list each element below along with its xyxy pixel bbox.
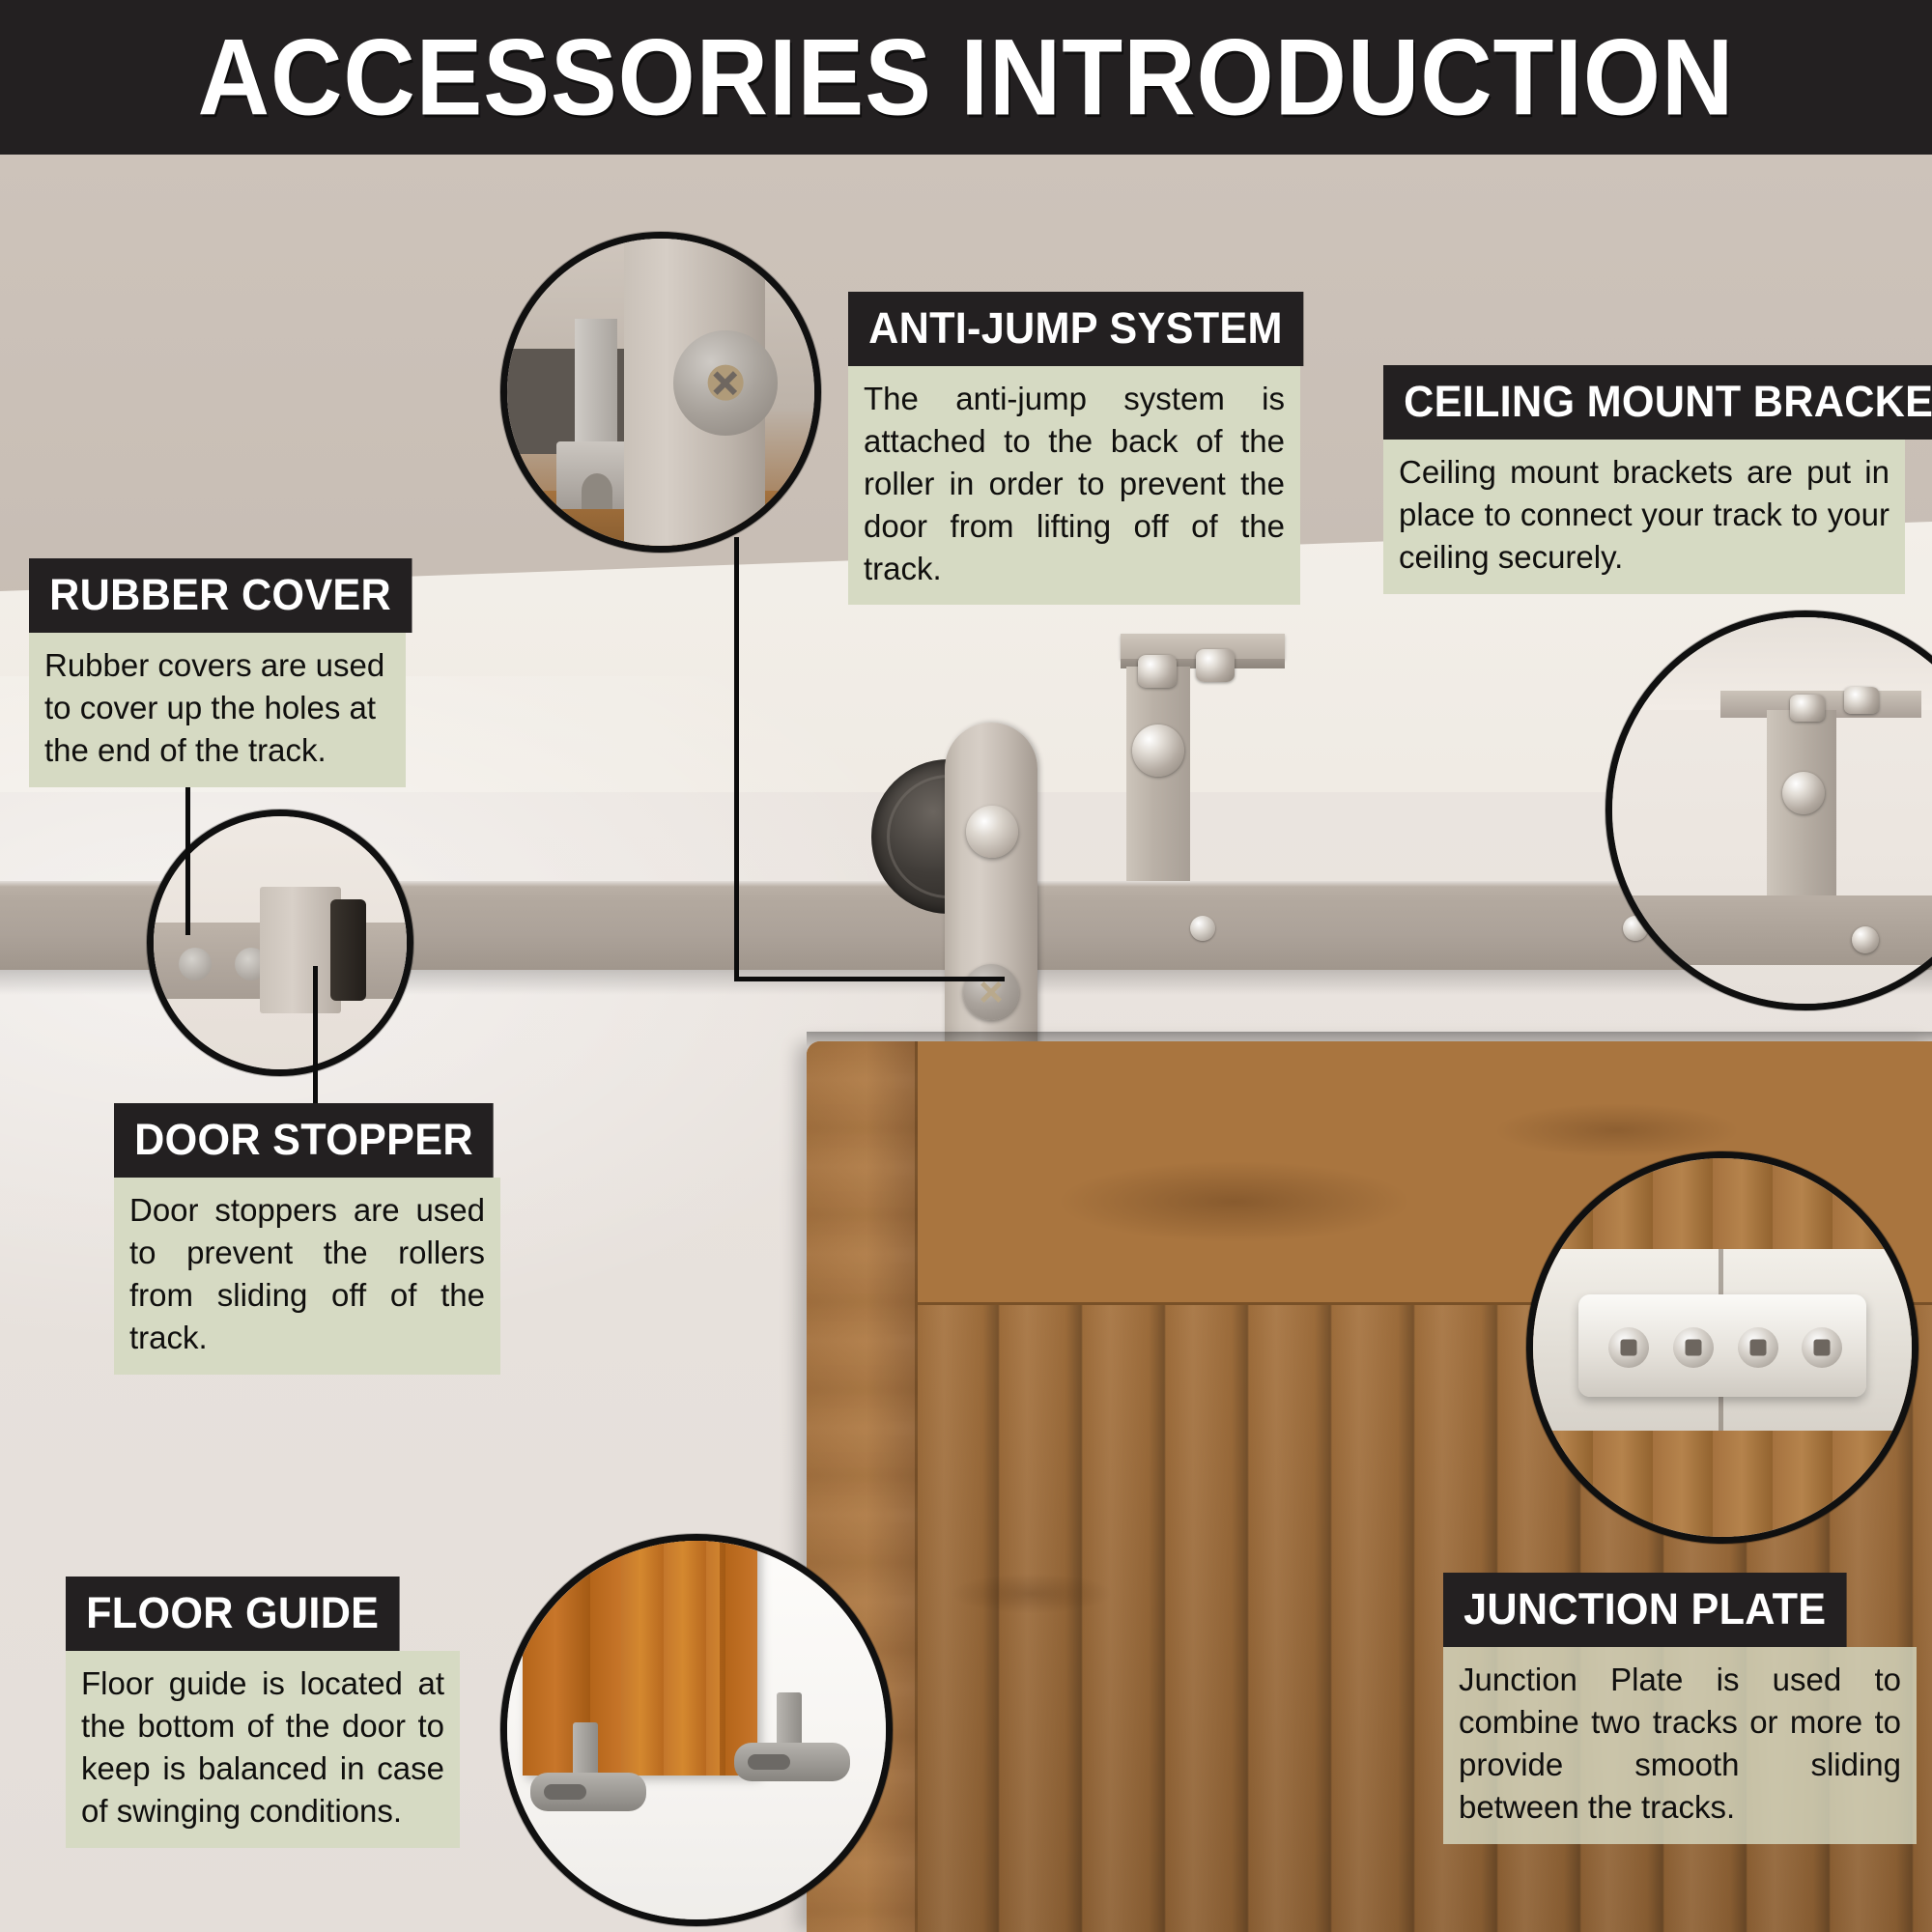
track-bolt-1 [1190, 916, 1215, 941]
header-bar: ACCESSORIES INTRODUCTION [0, 0, 1932, 155]
floor-guide-bracket-left [530, 1722, 646, 1815]
callout-body-floor-guide: Floor guide is located at the bottom of … [66, 1651, 460, 1848]
hanger-pin [966, 806, 1018, 858]
callout-body-ceiling-mount-bracket: Ceiling mount brackets are put in place … [1383, 440, 1905, 594]
bracket-hex-nut-1 [1138, 655, 1177, 688]
callout-title-anti-jump-system: ANTI-JUMP SYSTEM [848, 292, 1303, 366]
anti-jump-detail-circle [500, 232, 821, 553]
callout-title-junction-plate: JUNCTION PLATE [1443, 1573, 1846, 1647]
anti-jump-screw-cap [963, 964, 1019, 1020]
callout-body-door-stopper: Door stoppers are used to prevent the ro… [114, 1178, 500, 1375]
callout-floor-guide: FLOOR GUIDE Floor guide is located at th… [66, 1577, 460, 1848]
leader-line-door-stopper [313, 966, 318, 1109]
leader-line-anti-jump-vertical [734, 537, 739, 981]
ceiling-bracket-detail-circle [1605, 611, 1932, 1010]
callout-body-rubber-cover: Rubber covers are used to cover up the h… [29, 633, 406, 787]
callout-title-rubber-cover: RUBBER COVER [29, 558, 412, 633]
bracket-hex-nut-2 [1196, 649, 1235, 682]
callout-door-stopper: DOOR STOPPER Door stoppers are used to p… [114, 1103, 500, 1375]
callout-body-anti-jump-system: The anti-jump system is attached to the … [848, 366, 1300, 605]
callout-anti-jump-system: ANTI-JUMP SYSTEM The anti-jump system is… [848, 292, 1300, 605]
callout-rubber-cover: RUBBER COVER Rubber covers are used to c… [29, 558, 406, 787]
page-title: ACCESSORIES INTRODUCTION [77, 15, 1855, 140]
callout-title-ceiling-mount-bracket: CEILING MOUNT BRACKET [1383, 365, 1932, 440]
junction-plate-detail-image [1533, 1158, 1912, 1537]
anti-jump-detail-image [507, 239, 814, 546]
callout-body-junction-plate: Junction Plate is used to combine two tr… [1443, 1647, 1917, 1844]
callout-junction-plate: JUNCTION PLATE Junction Plate is used to… [1443, 1573, 1917, 1844]
floor-guide-detail-circle [500, 1534, 893, 1926]
floor-guide-detail-image [507, 1541, 886, 1919]
ceiling-bracket-detail-image [1612, 617, 1932, 1004]
junction-plate-detail-circle [1526, 1151, 1918, 1544]
callout-title-door-stopper: DOOR STOPPER [114, 1103, 494, 1178]
infographic-canvas: RUBBER COVER Rubber covers are used to c… [0, 0, 1932, 1932]
floor-guide-bracket-right [734, 1692, 850, 1785]
bracket-vertical-leg [1126, 667, 1190, 891]
leader-line-anti-jump-horizontal [734, 977, 1005, 981]
callout-title-floor-guide: FLOOR GUIDE [66, 1577, 399, 1651]
bracket-leg-bolt [1132, 724, 1184, 777]
door-stopper-detail-image [154, 816, 407, 1069]
callout-ceiling-mount-bracket: CEILING MOUNT BRACKET Ceiling mount brac… [1383, 365, 1905, 594]
